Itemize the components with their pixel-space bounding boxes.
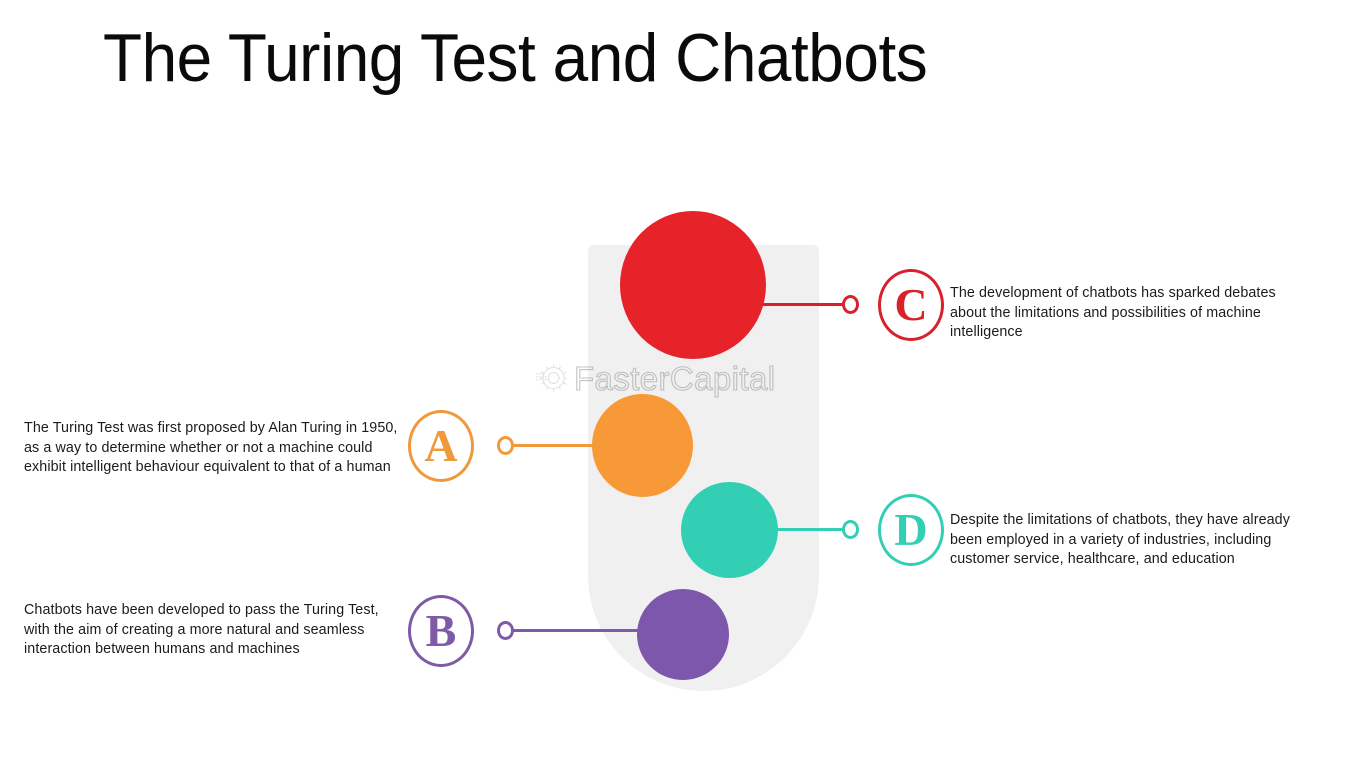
connector-line-d bbox=[774, 528, 844, 531]
connector-line-a bbox=[513, 444, 595, 447]
description-c: The development of chatbots has sparked … bbox=[950, 284, 1302, 343]
connector-dot-c bbox=[842, 295, 859, 314]
badge-a-letter: A bbox=[424, 423, 457, 469]
description-d: Despite the limitations of chatbots, the… bbox=[950, 511, 1322, 570]
description-b: Chatbots have been developed to pass the… bbox=[24, 601, 402, 660]
connector-dot-d bbox=[842, 520, 859, 539]
badge-d-letter: D bbox=[894, 507, 927, 553]
blob-teal bbox=[681, 482, 778, 578]
connector-line-b bbox=[513, 629, 638, 632]
connector-dot-b bbox=[497, 621, 514, 640]
badge-a[interactable]: A bbox=[408, 410, 474, 482]
page-title: The Turing Test and Chatbots bbox=[103, 15, 1043, 101]
badge-d[interactable]: D bbox=[878, 494, 944, 566]
badge-b[interactable]: B bbox=[408, 595, 474, 667]
description-a: The Turing Test was first proposed by Al… bbox=[24, 419, 402, 478]
connector-dot-a bbox=[497, 436, 514, 455]
blob-red bbox=[620, 211, 766, 359]
blob-purple bbox=[637, 589, 729, 680]
badge-c-letter: C bbox=[894, 282, 927, 328]
blob-orange bbox=[592, 394, 693, 497]
badge-b-letter: B bbox=[426, 608, 457, 654]
gear-icon bbox=[530, 357, 572, 399]
badge-c[interactable]: C bbox=[878, 269, 944, 341]
slide-canvas: The Turing Test and Chatbots FasterCap bbox=[0, 0, 1350, 759]
connector-line-c bbox=[762, 303, 844, 306]
